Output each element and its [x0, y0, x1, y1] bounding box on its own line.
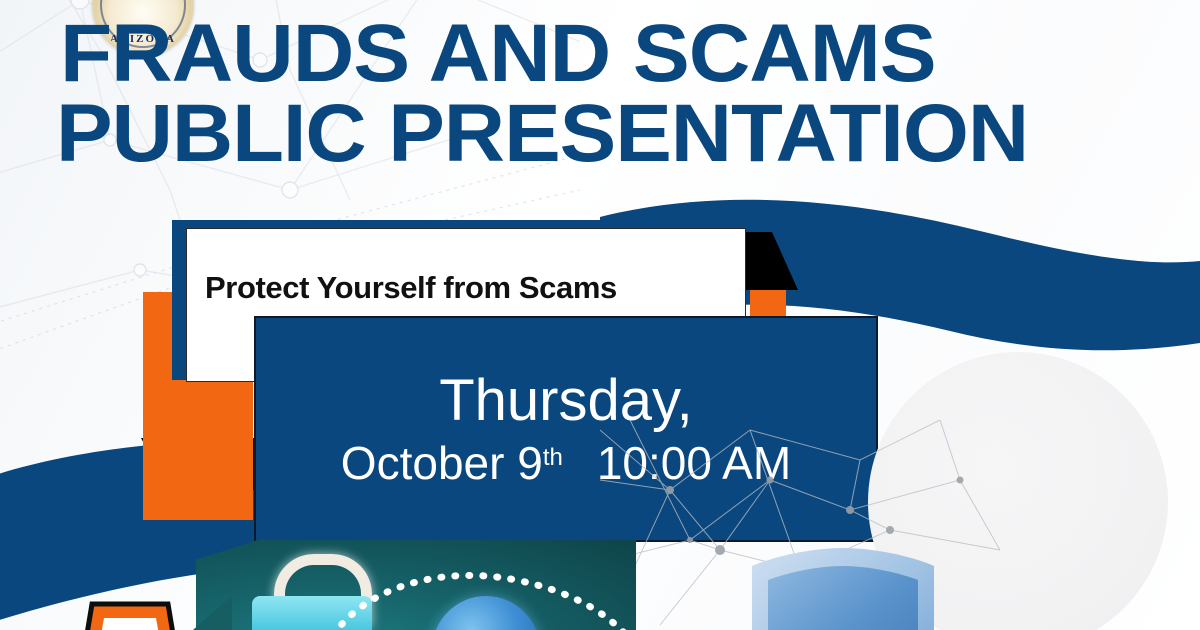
black-trapezoid-right: [746, 232, 798, 290]
padlock-globe-photo: [196, 540, 636, 630]
event-day-number: 9: [517, 440, 543, 486]
orange-outline-badge-icon: [82, 600, 178, 630]
headline-line-2: PUBLIC PRESENTATION: [56, 98, 1188, 170]
event-month: October: [341, 440, 505, 486]
shield-keyhole-icon: [748, 546, 938, 630]
subtitle-text: Protect Yourself from Scams: [205, 270, 617, 306]
event-ordinal-suffix: th: [543, 446, 563, 470]
headline-line-1: FRAUDS AND SCAMS: [60, 18, 1194, 90]
dotted-arc-graphic: [316, 556, 636, 630]
poster-canvas: ARIZONA FRAUDS AND SCAMS PUBLIC PRESENTA…: [0, 0, 1200, 630]
page-title: FRAUDS AND SCAMS PUBLIC PRESENTATION: [60, 18, 1150, 170]
